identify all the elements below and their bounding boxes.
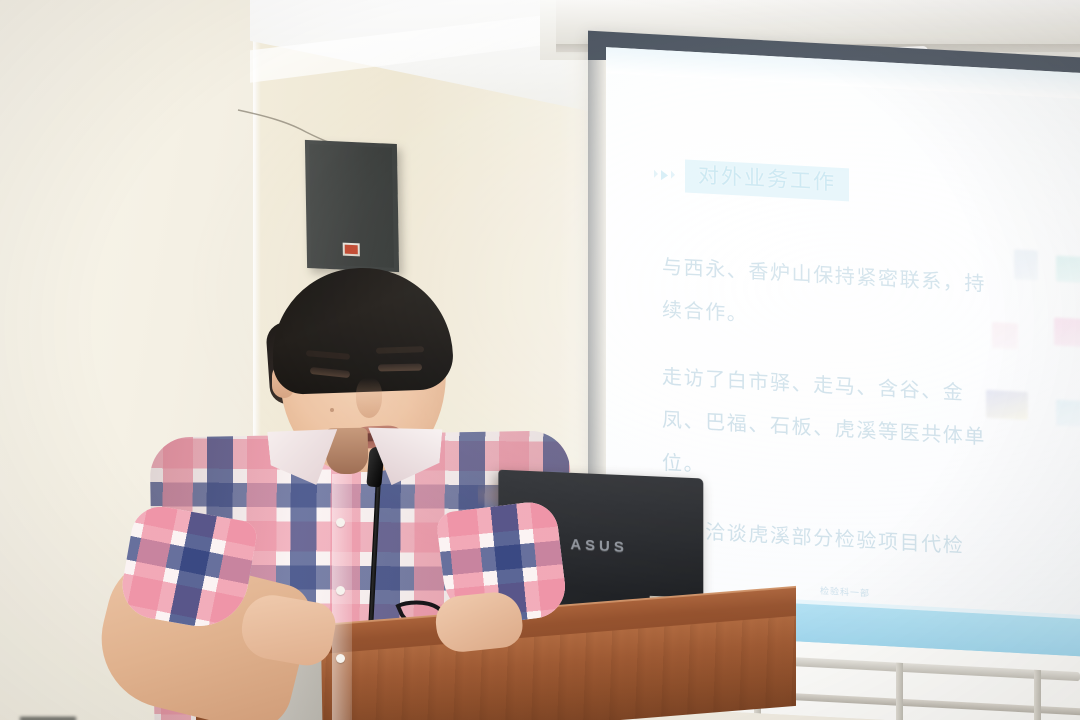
slide-thumbnail-group <box>944 245 1074 462</box>
plaid-pattern <box>117 502 259 634</box>
slide-paragraph: 开始洽谈虎溪部分检验项目代检 <box>662 509 992 570</box>
shirt-button <box>336 518 345 527</box>
slide-thumbnail <box>1056 256 1080 284</box>
asus-logo: ASUS <box>570 536 627 556</box>
nose <box>356 378 382 418</box>
slide-thumbnail <box>1014 249 1038 280</box>
railing-post <box>896 663 903 720</box>
slide-thumbnail <box>986 390 1028 420</box>
slide-thumbnail <box>992 322 1018 349</box>
shirt-button <box>336 654 345 663</box>
slide-thumbnail <box>1054 317 1080 347</box>
slide-footnote: 检验科一部 <box>820 584 870 600</box>
slide-thumbnail <box>1056 400 1080 427</box>
slide-paragraph: 与西永、香炉山保持紧密联系，持续合作。 <box>662 246 992 350</box>
slide-paragraph: 走访了白市驿、走马、含谷、金凤、巴福、石板、虎溪等医共体单位。 <box>662 356 992 503</box>
speaker-badge <box>343 243 360 257</box>
shirt-button <box>336 586 345 595</box>
eye-right <box>378 364 422 372</box>
presentation-photo: 对外业务工作 与西永、香炉山保持紧密联系，持续合作。 走访了白市驿、走马、含谷、… <box>0 0 1080 720</box>
hair <box>270 265 454 395</box>
chevron-right-triple-icon <box>654 169 675 180</box>
right-hand <box>433 590 524 655</box>
slide-body: 与西永、香炉山保持紧密联系，持续合作。 走访了白市驿、走马、含谷、金凤、巴福、石… <box>662 246 992 594</box>
railing-post <box>1034 670 1041 720</box>
shirt-placket <box>332 474 352 720</box>
left-sleeve <box>117 502 259 634</box>
cheek-mole <box>330 408 334 412</box>
wall-speaker <box>305 140 399 272</box>
